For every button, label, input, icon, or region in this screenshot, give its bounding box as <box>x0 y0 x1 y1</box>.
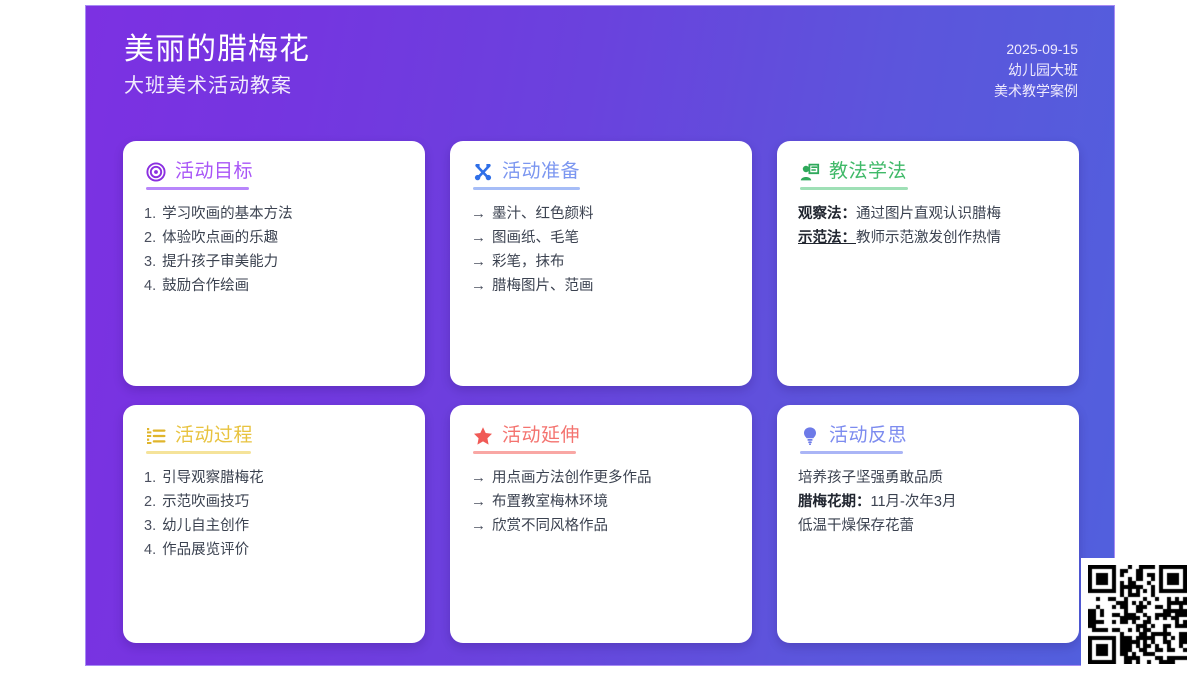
item-marker: 1. <box>144 202 156 226</box>
item-text: 体验吹点画的乐趣 <box>162 226 278 250</box>
qr-code-container[interactable] <box>1081 558 1194 671</box>
method-text: 教师示范激发创作热情 <box>856 230 1001 246</box>
card-activity-process[interactable]: 活动过程 1. 引导观察腊梅花 2. 示范吹画技巧 3. 幼儿自主创作 <box>123 405 425 643</box>
card-activity-reflection[interactable]: 活动反思 培养孩子坚强勇敢品质 腊梅花期：11月-次年3月 低温干燥保存花蕾 <box>777 405 1079 643</box>
method-sep: ： <box>842 206 857 222</box>
reflection-text: 11月-次年3月 <box>871 494 957 510</box>
item-marker: → <box>471 490 486 514</box>
tools-icon <box>473 162 493 182</box>
card-title: 活动过程 <box>175 424 253 448</box>
item-text: 布置教室梅林环境 <box>492 490 608 514</box>
item-text: 作品展览评价 <box>162 538 249 562</box>
item-marker: → <box>471 274 486 298</box>
card-teaching-methods[interactable]: 教法学法 观察法：通过图片直观认识腊梅 示范法：教师示范激发创作热情 <box>777 141 1079 386</box>
item-marker: → <box>471 514 486 538</box>
card-header: 活动延伸 <box>473 424 731 448</box>
item-text: 欣赏不同风格作品 <box>492 514 608 538</box>
item-marker: 4. <box>144 538 156 562</box>
title-underline <box>146 187 249 190</box>
title-underline <box>146 451 251 454</box>
item-text: 鼓励合作绘画 <box>162 274 249 298</box>
page-subtitle: 大班美术活动教案 <box>124 69 310 103</box>
title-underline <box>473 187 580 190</box>
card-header: 活动反思 <box>800 424 1058 448</box>
reflection-label: 腊梅花期 <box>798 494 856 510</box>
title-block: 美丽的腊梅花 大班美术活动教案 <box>124 31 310 103</box>
slide: 美丽的腊梅花 大班美术活动教案 2025-09-15 幼儿园大班 美术教学案例 <box>85 5 1115 666</box>
reflection-sep: ： <box>856 494 871 510</box>
list-item: → 用点画方法创作更多作品 <box>471 466 731 490</box>
header-meta: 2025-09-15 幼儿园大班 美术教学案例 <box>994 39 1078 102</box>
list-item: → 欣赏不同风格作品 <box>471 514 731 538</box>
list-item: 1. 引导观察腊梅花 <box>144 466 404 490</box>
card-header: 教法学法 <box>800 160 1058 184</box>
page-title: 美丽的腊梅花 <box>124 31 310 69</box>
qr-code[interactable] <box>1088 565 1187 664</box>
card-activity-extension[interactable]: 活动延伸 → 用点画方法创作更多作品 → 布置教室梅林环境 → 欣赏不同风格作品 <box>450 405 752 643</box>
reflection-line: 低温干燥保存花蕾 <box>798 514 1058 538</box>
card-title: 活动准备 <box>502 160 580 184</box>
method-line: 观察法：通过图片直观认识腊梅 <box>798 202 1058 226</box>
title-underline <box>473 451 576 454</box>
card-body: 培养孩子坚强勇敢品质 腊梅花期：11月-次年3月 低温干燥保存花蕾 <box>798 466 1058 538</box>
item-marker: 3. <box>144 514 156 538</box>
card-grid: 活动目标 1. 学习吹画的基本方法 2. 体验吹点画的乐趣 3. 提升孩子审美能… <box>123 141 1079 643</box>
list-item: → 彩笔，抹布 <box>471 250 731 274</box>
method-text: 通过图片直观认识腊梅 <box>856 206 1001 222</box>
meta-grade: 幼儿园大班 <box>994 60 1078 81</box>
card-activity-preparation[interactable]: 活动准备 → 墨汁、红色颜料 → 图画纸、毛笔 → 彩笔，抹布 <box>450 141 752 386</box>
card-title: 活动目标 <box>175 160 253 184</box>
meta-category: 美术教学案例 <box>994 81 1078 102</box>
reflection-text: 低温干燥保存花蕾 <box>798 518 914 534</box>
method-label: 观察法 <box>798 206 842 222</box>
target-icon <box>146 162 166 182</box>
method-line: 示范法：教师示范激发创作热情 <box>798 226 1058 250</box>
title-underline <box>800 451 903 454</box>
item-marker: → <box>471 226 486 250</box>
item-text: 学习吹画的基本方法 <box>162 202 293 226</box>
method-label: 示范法 <box>798 230 842 246</box>
list-item: 1. 学习吹画的基本方法 <box>144 202 404 226</box>
item-marker: → <box>471 250 486 274</box>
item-text: 用点画方法创作更多作品 <box>492 466 652 490</box>
list-item: 4. 作品展览评价 <box>144 538 404 562</box>
card-title: 活动反思 <box>829 424 907 448</box>
card-title: 活动延伸 <box>502 424 580 448</box>
reflection-text: 培养孩子坚强勇敢品质 <box>798 470 943 486</box>
card-body: 1. 引导观察腊梅花 2. 示范吹画技巧 3. 幼儿自主创作 4. 作品展览评价 <box>144 466 404 562</box>
item-marker: 4. <box>144 274 156 298</box>
item-text: 彩笔，抹布 <box>492 250 565 274</box>
card-header: 活动准备 <box>473 160 731 184</box>
list-item: → 图画纸、毛笔 <box>471 226 731 250</box>
star-icon <box>473 426 493 446</box>
list-item: 4. 鼓励合作绘画 <box>144 274 404 298</box>
card-body: → 墨汁、红色颜料 → 图画纸、毛笔 → 彩笔，抹布 → 腊梅图片、范画 <box>471 202 731 298</box>
item-marker: 2. <box>144 226 156 250</box>
card-body: → 用点画方法创作更多作品 → 布置教室梅林环境 → 欣赏不同风格作品 <box>471 466 731 538</box>
item-text: 幼儿自主创作 <box>162 514 249 538</box>
card-title: 教法学法 <box>829 160 907 184</box>
lightbulb-icon <box>800 426 820 446</box>
item-marker: → <box>471 466 486 490</box>
item-marker: 3. <box>144 250 156 274</box>
slide-header: 美丽的腊梅花 大班美术活动教案 2025-09-15 幼儿园大班 美术教学案例 <box>86 6 1114 131</box>
item-text: 图画纸、毛笔 <box>492 226 579 250</box>
method-sep: ： <box>842 230 857 246</box>
card-body: 观察法：通过图片直观认识腊梅 示范法：教师示范激发创作热情 <box>798 202 1058 250</box>
item-text: 墨汁、红色颜料 <box>492 202 594 226</box>
item-marker: 2. <box>144 490 156 514</box>
list-item: → 布置教室梅林环境 <box>471 490 731 514</box>
list-item: → 腊梅图片、范画 <box>471 274 731 298</box>
screenshot-canvas: 美丽的腊梅花 大班美术活动教案 2025-09-15 幼儿园大班 美术教学案例 <box>0 0 1200 675</box>
item-text: 提升孩子审美能力 <box>162 250 278 274</box>
meta-date: 2025-09-15 <box>994 39 1078 60</box>
card-activity-goals[interactable]: 活动目标 1. 学习吹画的基本方法 2. 体验吹点画的乐趣 3. 提升孩子审美能… <box>123 141 425 386</box>
item-marker: 1. <box>144 466 156 490</box>
title-underline <box>800 187 908 190</box>
card-header: 活动目标 <box>146 160 404 184</box>
reflection-line: 腊梅花期：11月-次年3月 <box>798 490 1058 514</box>
list-item: 2. 示范吹画技巧 <box>144 490 404 514</box>
presenter-icon <box>800 162 820 182</box>
list-item: → 墨汁、红色颜料 <box>471 202 731 226</box>
item-text: 引导观察腊梅花 <box>162 466 264 490</box>
ordered-list-icon <box>146 426 166 446</box>
list-item: 3. 提升孩子审美能力 <box>144 250 404 274</box>
card-header: 活动过程 <box>146 424 404 448</box>
card-body: 1. 学习吹画的基本方法 2. 体验吹点画的乐趣 3. 提升孩子审美能力 4. … <box>144 202 404 298</box>
reflection-line: 培养孩子坚强勇敢品质 <box>798 466 1058 490</box>
item-text: 腊梅图片、范画 <box>492 274 594 298</box>
item-marker: → <box>471 202 486 226</box>
list-item: 2. 体验吹点画的乐趣 <box>144 226 404 250</box>
item-text: 示范吹画技巧 <box>162 490 249 514</box>
list-item: 3. 幼儿自主创作 <box>144 514 404 538</box>
